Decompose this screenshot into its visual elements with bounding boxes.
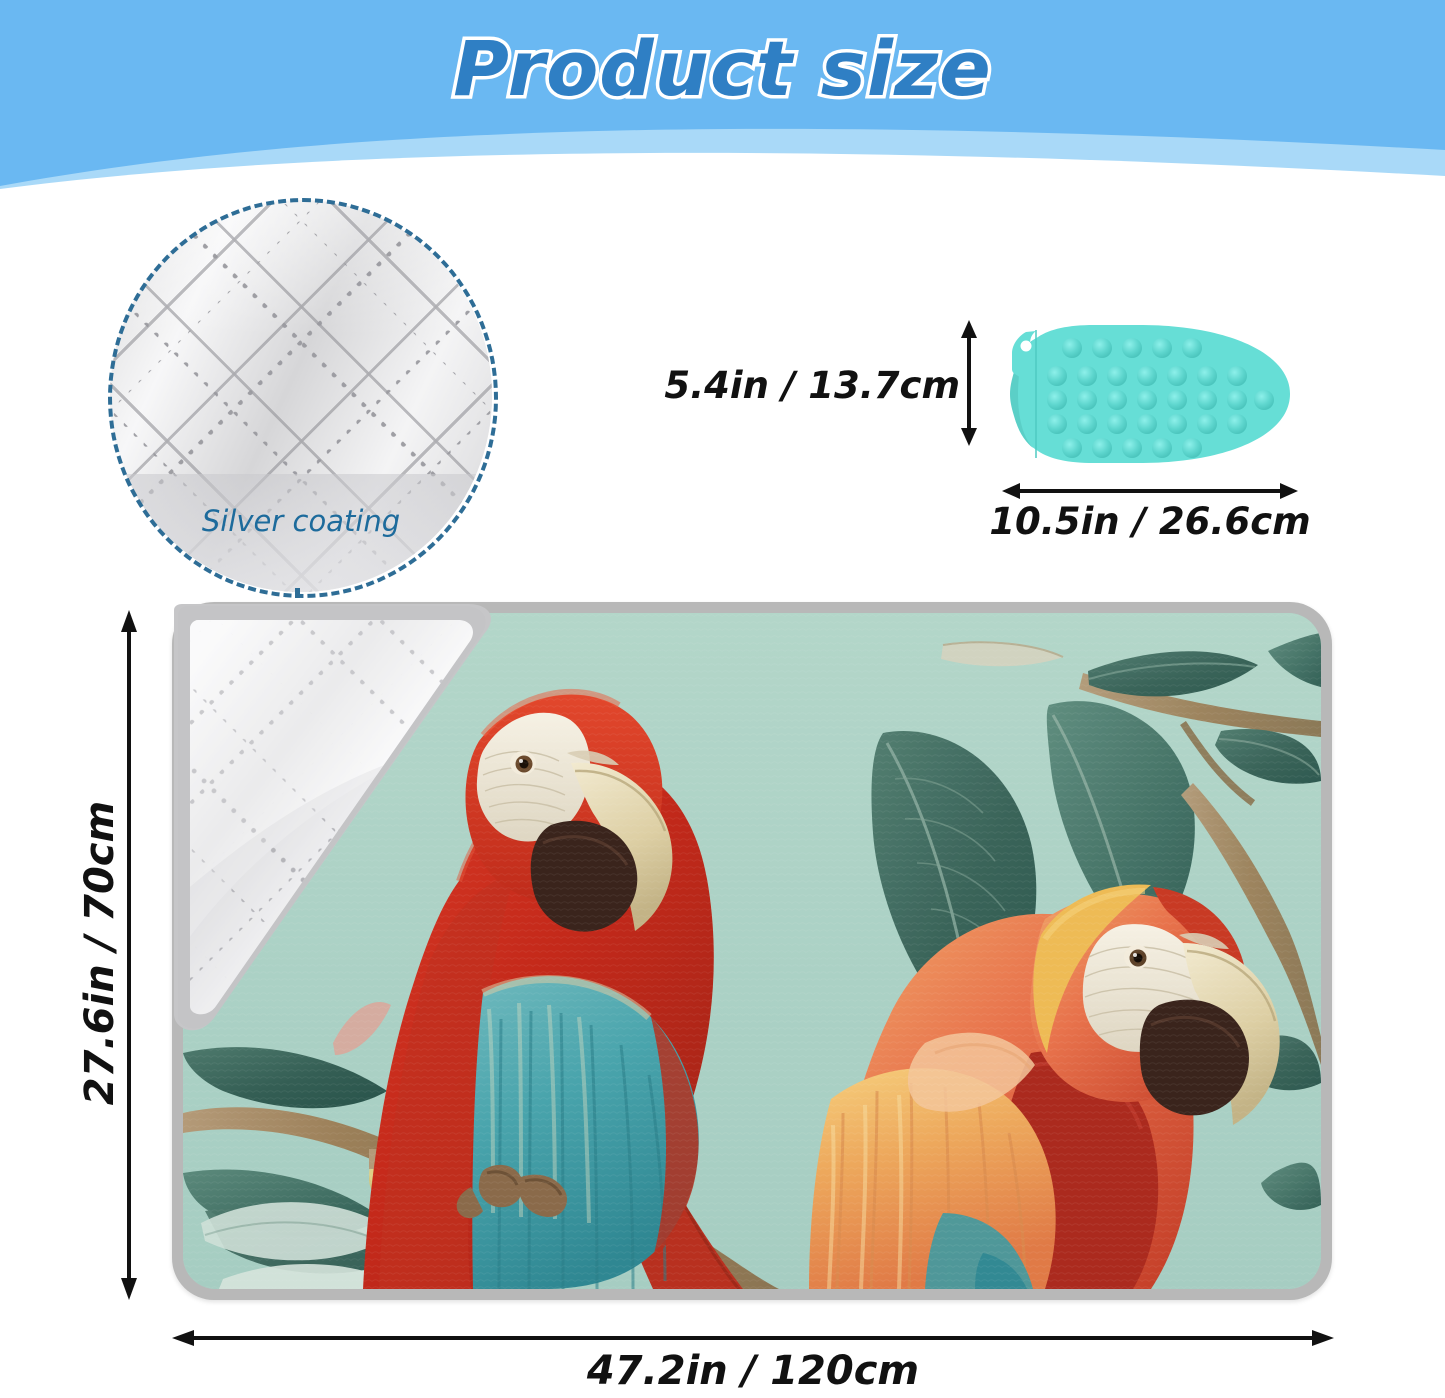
mat-height-label: 27.6in / 70cm	[77, 603, 123, 1303]
header-banner: Product size	[0, 0, 1445, 190]
mat-width-label: 47.2in / 120cm	[172, 1348, 1334, 1394]
product-size-infographic: Product size	[0, 0, 1445, 1398]
mat-folded-corner-flap	[172, 602, 502, 1022]
mat-width-arrow	[172, 1328, 1334, 1348]
silver-coating-label: Silver coating	[110, 505, 492, 537]
pad-width-label: 10.5in / 26.6cm	[950, 500, 1350, 543]
iron-rest-pad	[990, 318, 1310, 470]
page-title: Product size	[0, 24, 1445, 113]
iron-rest-pad-shape	[990, 318, 1310, 470]
pad-height-label: 5.4in / 13.7cm	[640, 364, 960, 407]
